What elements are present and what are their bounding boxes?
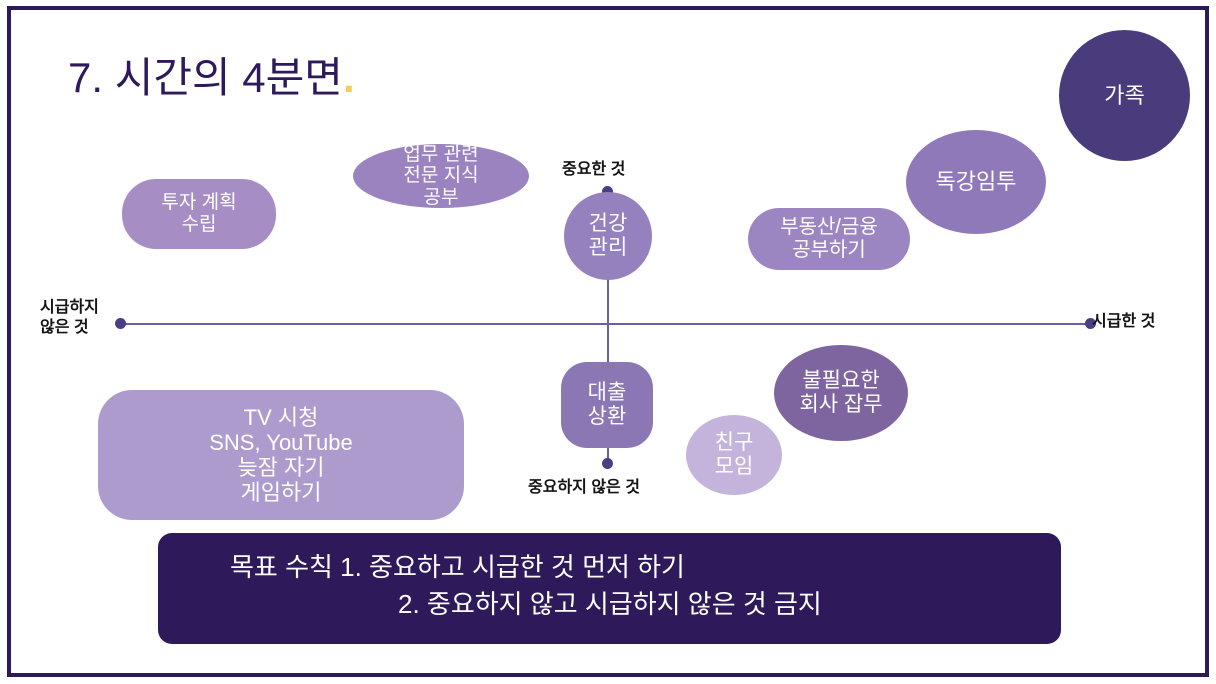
slide-canvas: 7. 시간의 4분면. 시급하지 않은 것 시급한 것 중요한 것 중요하지 않… [0,0,1216,684]
bubble-label-friend-meeting: 친구 모임 [686,431,782,479]
axis-endpoint-left-dot [115,318,126,329]
goal-rules-banner: 목표 수칙 1. 중요하고 시급한 것 먼저 하기 2. 중요하지 않고 시급하… [158,533,1061,644]
bubble-label-work-study: 업무 관련 전문 지식 공부 [353,144,529,209]
bubble-label-investment-plan: 투자 계획 수립 [122,192,276,235]
horizontal-axis-line [120,323,1090,325]
quadrant-diagram: 7. 시간의 4분면. 시급하지 않은 것 시급한 것 중요한 것 중요하지 않… [0,0,1216,684]
goal-rule-line-1: 목표 수칙 1. 중요하고 시급한 것 먼저 하기 [184,549,1035,586]
bubble-label-leisure-waste: TV 시청 SNS, YouTube 늦잠 자기 게임하기 [98,405,464,505]
axis-label-urgent: 시급한 것 [1092,312,1155,332]
page-title: 7. 시간의 4분면. [68,44,355,105]
bubble-health-care[interactable]: 건강 관리 [564,192,652,280]
axis-label-not-urgent: 시급하지 않은 것 [40,298,99,337]
goal-rule-line-2: 2. 중요하지 않고 시급하지 않은 것 금지 [184,586,1035,623]
bubble-lecture-study[interactable]: 독강임투 [906,130,1046,234]
bubble-label-health-care: 건강 관리 [564,212,652,260]
axis-label-not-important: 중요하지 않은 것 [528,478,640,498]
bubble-label-realestate-finance: 부동산/금융 공부하기 [748,216,910,262]
bubble-label-lecture-study: 독강임투 [906,169,1046,194]
bubble-leisure-waste[interactable]: TV 시청 SNS, YouTube 늦잠 자기 게임하기 [98,390,464,520]
bubble-family[interactable]: 가족 [1059,30,1190,161]
bubble-investment-plan[interactable]: 투자 계획 수립 [122,179,276,249]
axis-label-important: 중요한 것 [562,160,625,180]
bubble-loan-repayment[interactable]: 대출 상환 [561,362,653,448]
bubble-label-family: 가족 [1059,83,1190,108]
bubble-unnecessary-work[interactable]: 불필요한 회사 잡무 [774,345,908,441]
bubble-realestate-finance[interactable]: 부동산/금융 공부하기 [748,208,910,270]
bubble-label-loan-repayment: 대출 상환 [561,381,653,429]
title-accent-dot: . [343,54,355,101]
axis-endpoint-bottom-dot [602,458,613,469]
page-title-text: 7. 시간의 4분면 [68,54,343,101]
bubble-label-unnecessary-work: 불필요한 회사 잡무 [774,369,908,417]
bubble-friend-meeting[interactable]: 친구 모임 [686,415,782,495]
bubble-work-study[interactable]: 업무 관련 전문 지식 공부 [353,144,529,208]
